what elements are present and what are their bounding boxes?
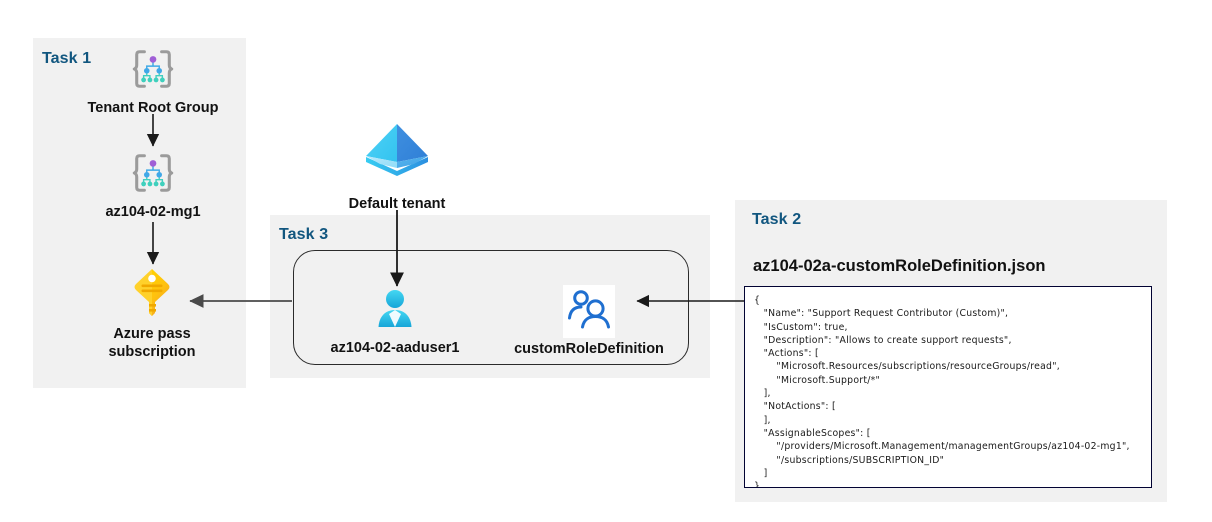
management-group-icon bbox=[73, 46, 233, 97]
azure-ad-tenant-icon bbox=[332, 118, 462, 193]
node-default-tenant[interactable]: Default tenant bbox=[332, 118, 462, 213]
node-label: az104-02-mg1 bbox=[85, 203, 221, 221]
node-label: az104-02-aaduser1 bbox=[315, 339, 475, 357]
node-tenant-root-group[interactable]: Tenant Root Group bbox=[73, 46, 233, 117]
node-label: Tenant Root Group bbox=[73, 99, 233, 117]
management-group-icon bbox=[85, 150, 221, 201]
subscription-key-icon bbox=[83, 266, 221, 323]
role-definition-icon bbox=[563, 285, 615, 338]
task-2-title: Task 2 bbox=[752, 211, 801, 229]
node-label: customRoleDefinition bbox=[503, 340, 675, 358]
task-3-title: Task 3 bbox=[279, 226, 328, 244]
node-az104-02-aaduser1[interactable]: az104-02-aaduser1 bbox=[315, 288, 475, 357]
user-icon bbox=[315, 288, 475, 337]
node-label: Default tenant bbox=[332, 195, 462, 213]
json-code-box: { "Name": "Support Request Contributor (… bbox=[744, 286, 1152, 488]
diagram-canvas: Task 1 Task 3 Task 2 bbox=[0, 0, 1212, 522]
node-az104-02-mg1[interactable]: az104-02-mg1 bbox=[85, 150, 221, 221]
node-azure-pass-subscription[interactable]: Azure pass subscription bbox=[83, 266, 221, 361]
json-filename-label: az104-02a-customRoleDefinition.json bbox=[753, 257, 1045, 276]
json-code-content: { "Name": "Support Request Contributor (… bbox=[754, 294, 1145, 488]
node-custom-role-definition[interactable]: customRoleDefinition bbox=[503, 285, 675, 358]
node-label-line-1: Azure pass bbox=[83, 325, 221, 343]
node-label-line-2: subscription bbox=[83, 343, 221, 361]
